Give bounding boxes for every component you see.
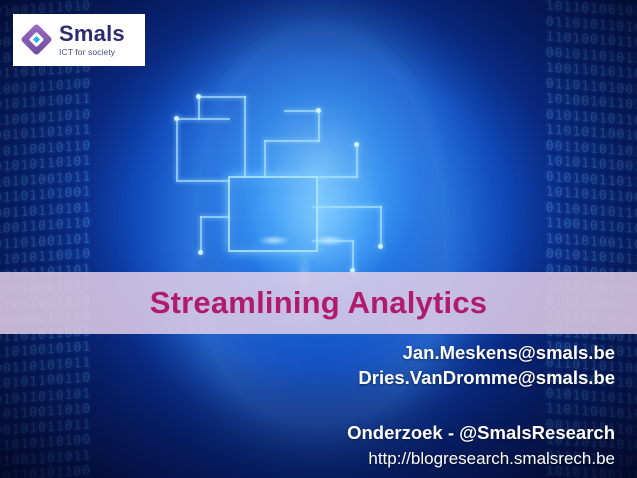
slide-title: Streamlining Analytics — [150, 285, 487, 321]
presentation-slide: 0100101101011010010110001101011011011010… — [0, 0, 637, 478]
title-band: Streamlining Analytics — [0, 272, 637, 334]
logo-tagline: ICT for society — [59, 48, 125, 57]
contact-block: Jan.Meskens@smals.be Dries.VanDromme@sma… — [347, 340, 615, 471]
smals-diamond-icon — [20, 23, 54, 57]
contact-email-1: Jan.Meskens@smals.be — [347, 340, 615, 365]
blog-url: http://blogresearch.smalsrech.be — [347, 447, 615, 471]
logo-name: Smals — [59, 23, 125, 45]
contact-email-2: Dries.VanDromme@smals.be — [347, 365, 615, 390]
organisation-line: Onderzoek - @SmalsResearch — [347, 420, 615, 445]
smals-logo: Smals ICT for society — [13, 14, 145, 66]
